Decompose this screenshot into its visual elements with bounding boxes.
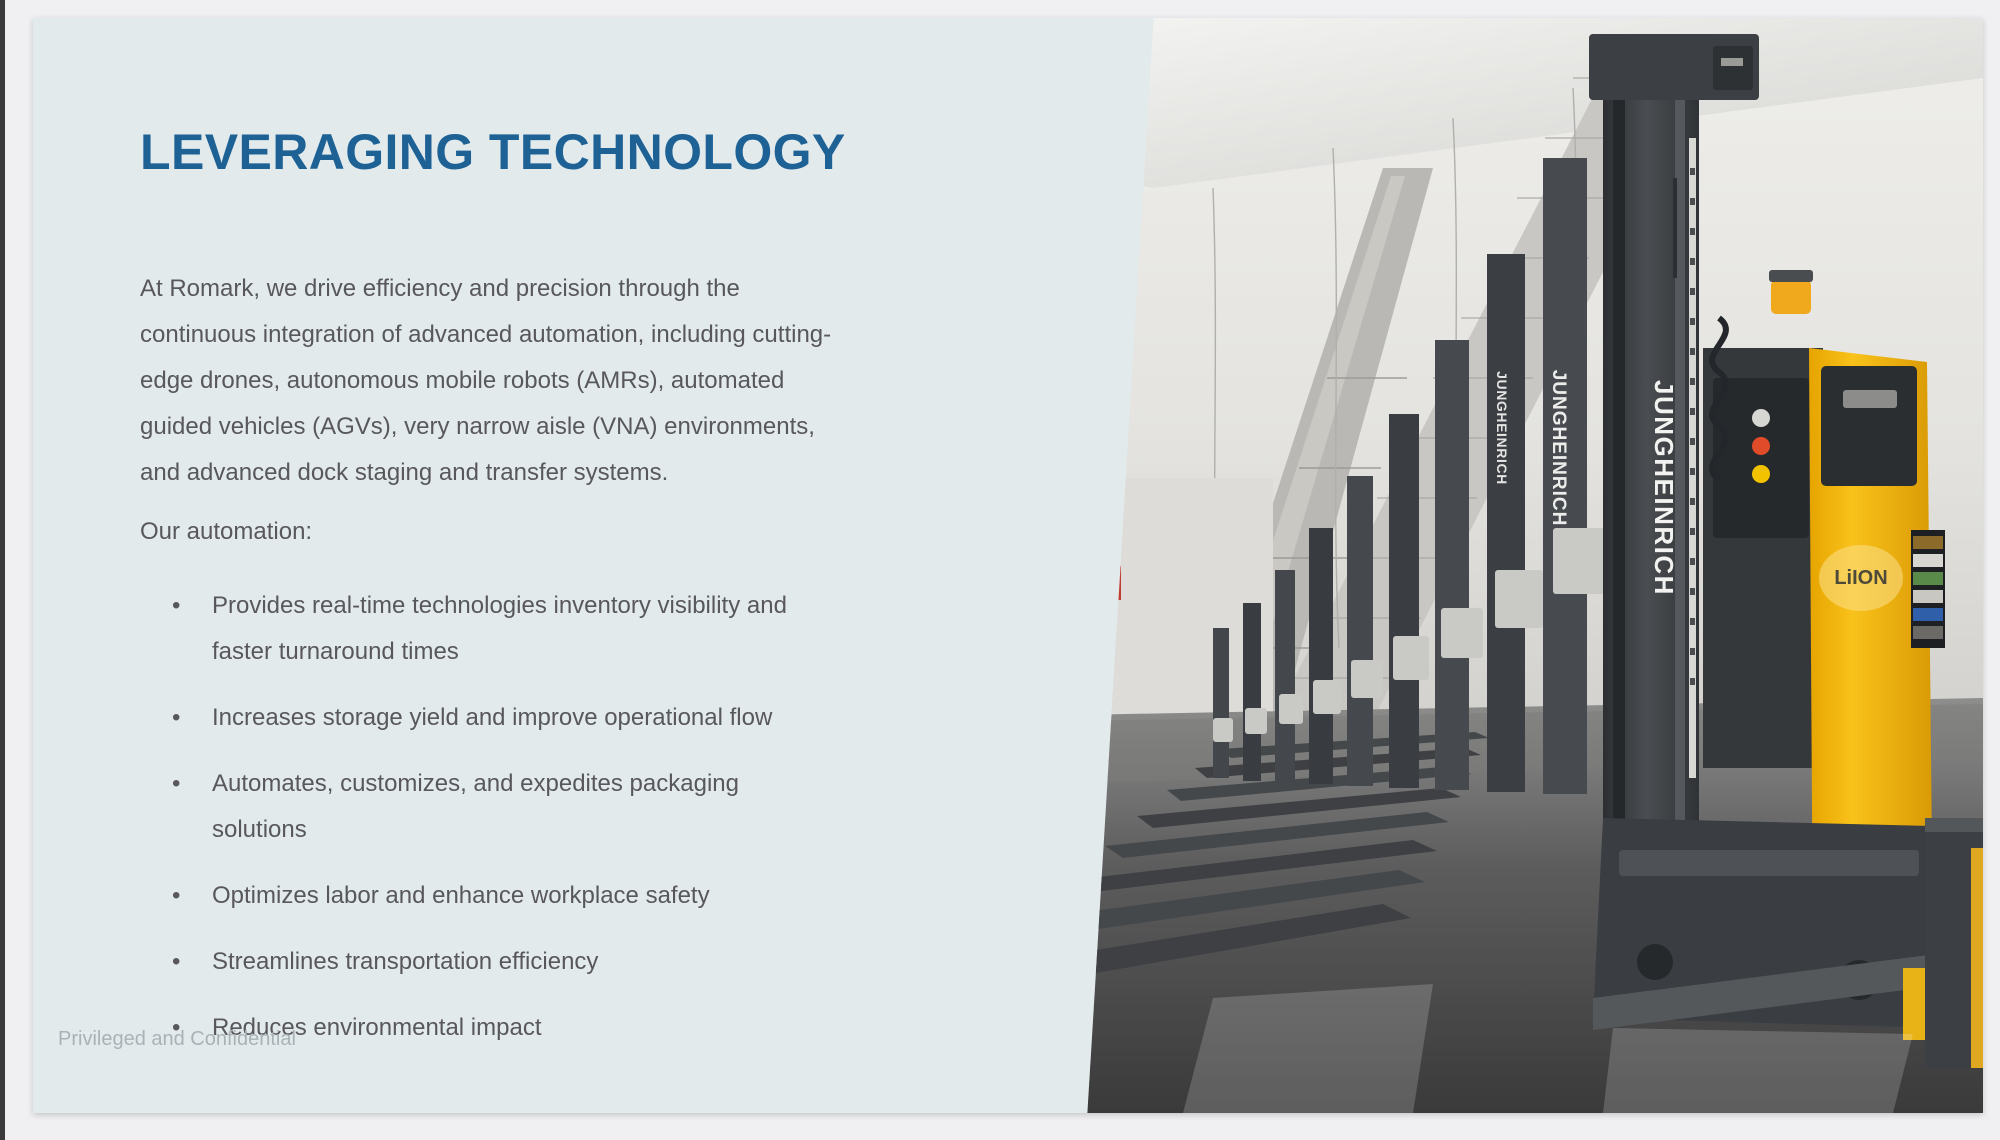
list-item: • Provides real-time technologies invent…: [140, 583, 840, 675]
mast-head-block: [1713, 46, 1753, 90]
spec-sticker-stack: [1911, 530, 1945, 648]
battery-label: LiION: [1834, 567, 1887, 589]
blue-bin: [1009, 578, 1063, 644]
bullet-marker-icon: •: [172, 761, 180, 807]
body-vent: [1843, 390, 1897, 408]
benefits-bullet-list: • Provides real-time technologies invent…: [140, 583, 840, 1071]
rack-leg-guard: [1971, 848, 1983, 1068]
list-item-label: Optimizes labor and enhance workplace sa…: [212, 882, 710, 909]
list-item-label: Streamlines transportation efficiency: [212, 948, 598, 975]
screenshot-viewport: LEVERAGING TECHNOLOGY At Romark, we driv…: [0, 0, 2000, 1140]
list-item: • Streamlines transportation efficiency: [140, 939, 840, 985]
mast-channel: [1613, 38, 1625, 828]
bullet-marker-icon: •: [172, 939, 180, 985]
list-item: • Optimizes labor and enhance workplace …: [140, 873, 840, 919]
beacon-base: [1769, 270, 1813, 282]
lead-in-label: Our automation:: [140, 518, 312, 546]
bullet-marker-icon: •: [172, 695, 180, 741]
red-marker: [1111, 566, 1121, 600]
amber-beacon: [1771, 280, 1811, 314]
list-item-label: Provides real-time technologies inventor…: [212, 592, 787, 665]
brand-text-secondary: JUNGHEINRICH: [1548, 370, 1569, 527]
control-panel: [1713, 378, 1809, 538]
drive-wheel: [1637, 944, 1673, 980]
slide-text-column: LEVERAGING TECHNOLOGY At Romark, we driv…: [138, 18, 858, 1113]
photo-illustration: JUNGHEINRICH JUNGHEINRICH JUNGHEINRICH: [913, 18, 1983, 1113]
warehouse-forklift-photo: JUNGHEINRICH JUNGHEINRICH JUNGHEINRICH: [913, 18, 1983, 1113]
chassis-strip: [1619, 850, 1919, 876]
left-edge-rail: [0, 0, 5, 1140]
brand-text-primary: JUNGHEINRICH: [1649, 380, 1679, 596]
bullet-marker-icon: •: [172, 583, 180, 629]
list-item: • Automates, customizes, and expedites p…: [140, 761, 840, 853]
brand-text-tertiary: JUNGHEINRICH: [1494, 371, 1510, 485]
intro-paragraph: At Romark, we drive efficiency and preci…: [140, 266, 845, 496]
status-light-white: [1752, 409, 1770, 427]
list-item: • Increases storage yield and improve op…: [140, 695, 840, 741]
red-marker: [1089, 566, 1099, 600]
body-upper-panel: [1821, 366, 1917, 486]
page-title: LEVERAGING TECHNOLOGY: [140, 123, 846, 181]
status-light-amber: [1752, 465, 1770, 483]
rack-leg-cap: [1925, 818, 1983, 832]
presentation-slide: LEVERAGING TECHNOLOGY At Romark, we driv…: [33, 18, 1983, 1113]
antenna: [1673, 178, 1677, 278]
list-item-label: Automates, customizes, and expedites pac…: [212, 770, 739, 843]
confidentiality-footer: Privileged and Confidential: [58, 1028, 296, 1051]
bullet-marker-icon: •: [172, 873, 180, 919]
list-item-label: Increases storage yield and improve oper…: [212, 704, 772, 731]
head-label-plate: [1721, 58, 1743, 66]
status-light-red: [1752, 437, 1770, 455]
